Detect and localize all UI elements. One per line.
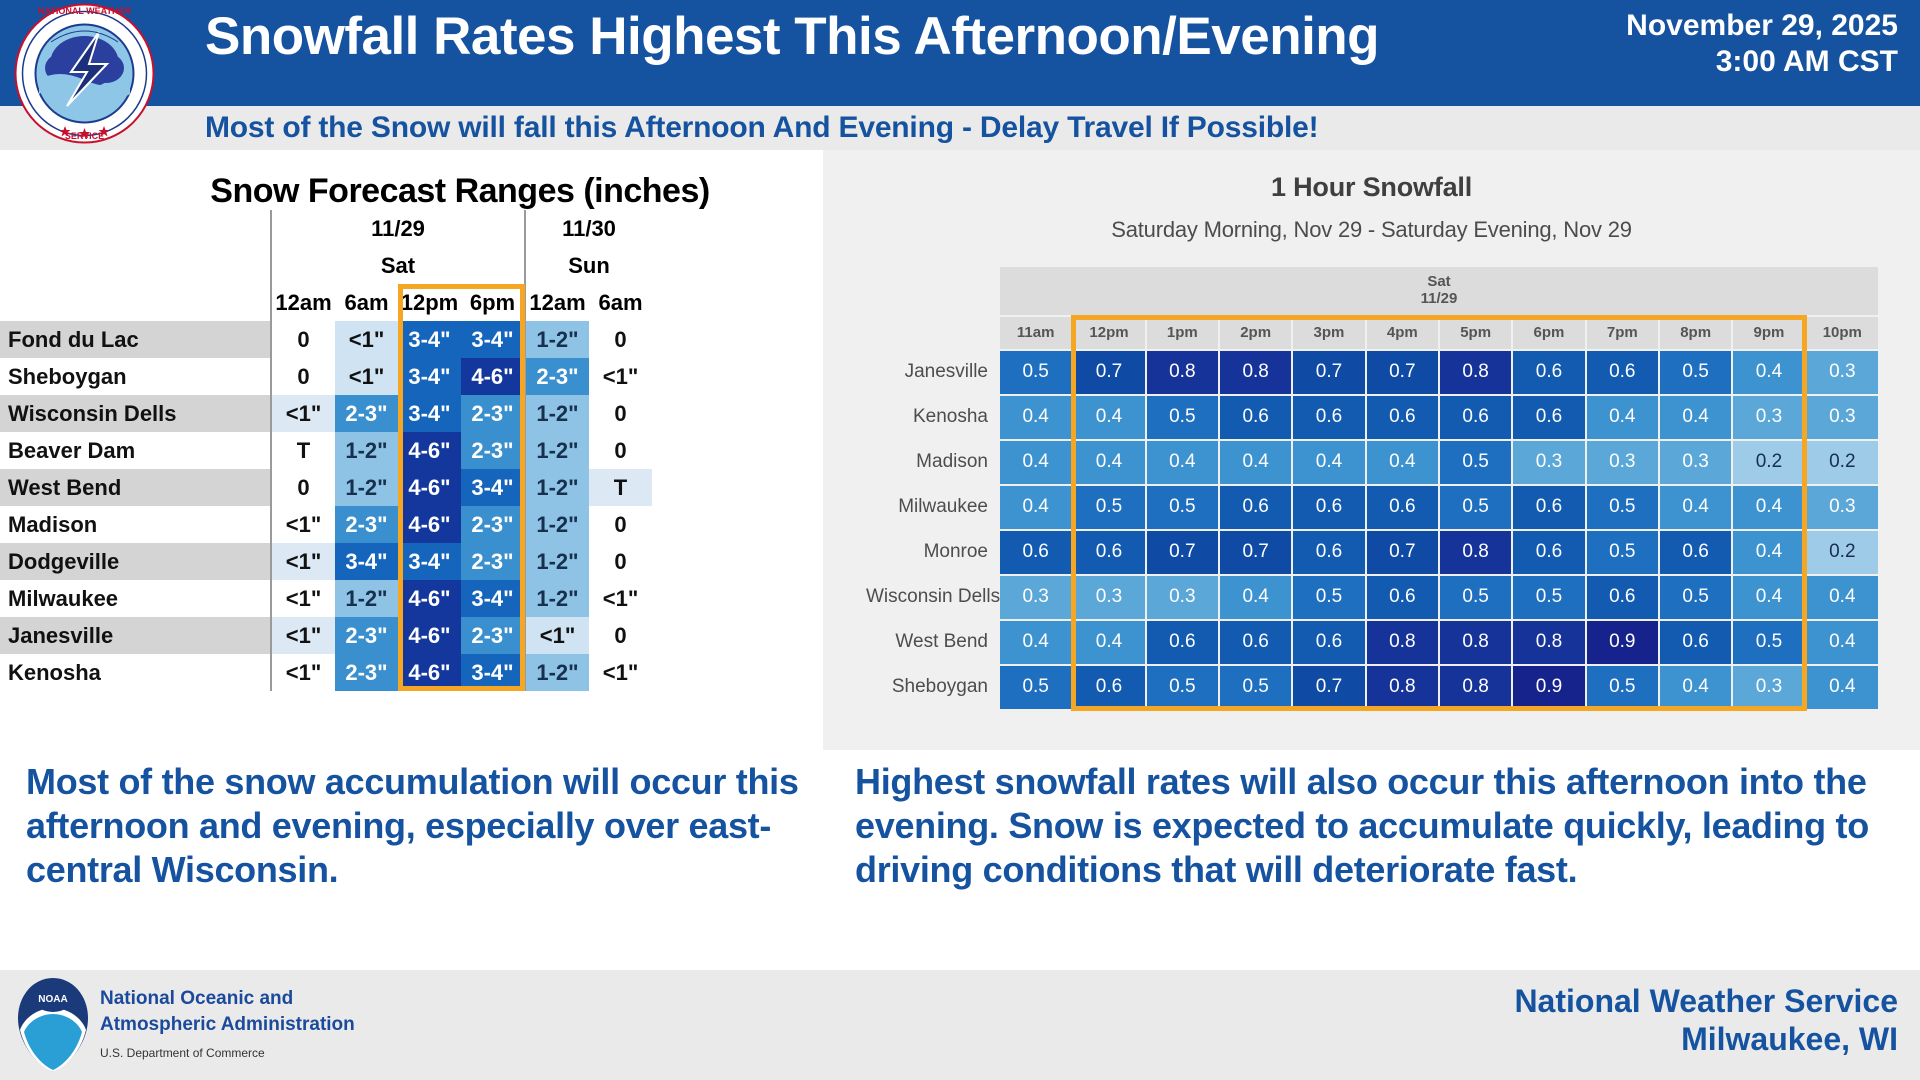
heatmap-cell: 0.6 <box>1587 351 1658 394</box>
forecast-cell: 1-2" <box>525 395 589 432</box>
forecast-cell: <1" <box>335 321 398 358</box>
forecast-cell: 3-4" <box>335 543 398 580</box>
heatmap-cell: 0.3 <box>1807 396 1878 439</box>
heatmap-cell: 0.5 <box>1440 486 1511 529</box>
heatmap-cell: 0.4 <box>1147 441 1218 484</box>
forecast-cell: 0 <box>589 617 652 654</box>
heatmap-cell: 0.3 <box>1587 441 1658 484</box>
header-datetime: November 29, 2025 3:00 AM CST <box>1626 8 1898 80</box>
header-date-1129: 11/29 <box>271 210 525 247</box>
row-city-label: Dodgeville <box>0 543 271 580</box>
forecast-cell: <1" <box>271 395 335 432</box>
forecast-cell: 1-2" <box>525 654 589 691</box>
page-header: Snowfall Rates Highest This Afternoon/Ev… <box>0 0 1920 106</box>
forecast-cell: 4-6" <box>398 654 461 691</box>
heatmap-cell: 0.4 <box>1073 396 1144 439</box>
heatmap-col-header: 3pm <box>1293 317 1364 349</box>
forecast-cell: 1-2" <box>525 469 589 506</box>
forecast-cell: 3-4" <box>461 469 525 506</box>
heatmap-cell: 0.4 <box>1000 486 1071 529</box>
heatmap-subtitle: Saturday Morning, Nov 29 - Saturday Even… <box>823 203 1920 243</box>
forecast-cell: T <box>589 469 652 506</box>
heatmap-col-header: 5pm <box>1440 317 1511 349</box>
heatmap-cell: 0.6 <box>1293 531 1364 574</box>
heatmap-col-header: 6pm <box>1513 317 1584 349</box>
forecast-cell: 0 <box>589 432 652 469</box>
page-footer: NOAA National Oceanic and Atmospheric Ad… <box>0 968 1920 1080</box>
heatmap-cell: 0.2 <box>1733 441 1804 484</box>
heatmap-day-row: Sat 11/29 <box>865 267 1878 315</box>
heatmap-title: 1 Hour Snowfall <box>823 150 1920 203</box>
main-content: Snow Forecast Ranges (inches) 11/29 11/3… <box>0 150 1920 980</box>
heatmap-cell: 0.3 <box>1733 396 1804 439</box>
row-city-label: Kenosha <box>0 654 271 691</box>
heatmap-cell: 0.6 <box>1513 531 1584 574</box>
col-header-6am-sun: 6am <box>589 284 652 321</box>
heatmap-cell: 0.8 <box>1440 351 1511 394</box>
forecast-cell: 2-3" <box>461 543 525 580</box>
heatmap-cell: 0.5 <box>1587 486 1658 529</box>
noaa-department: U.S. Department of Commerce <box>100 1046 265 1060</box>
heatmap-row: West Bend0.40.40.60.60.60.80.80.80.90.60… <box>865 621 1878 664</box>
heatmap-cell: 0.8 <box>1513 621 1584 664</box>
table-row: Beaver DamT1-2"4-6"2-3"1-2"0 <box>0 432 652 469</box>
forecast-cell: 2-3" <box>335 654 398 691</box>
header-row-hours: 12am 6am 12pm 6pm 12am 6am <box>0 284 652 321</box>
heatmap-row: Monroe0.60.60.70.70.60.70.80.60.50.60.40… <box>865 531 1878 574</box>
header-spacer-3 <box>0 284 271 321</box>
forecast-cell: 4-6" <box>398 432 461 469</box>
heatmap-cell: 0.5 <box>1587 531 1658 574</box>
subheader-text: Most of the Snow will fall this Afternoo… <box>205 111 1318 145</box>
heatmap-cell: 0.3 <box>1000 576 1071 619</box>
forecast-cell: 1-2" <box>335 580 398 617</box>
heatmap-cell: 0.7 <box>1367 531 1438 574</box>
heatmap-cell: 0.3 <box>1807 486 1878 529</box>
heatmap-cell: 0.5 <box>1220 666 1291 709</box>
nws-seal-icon: NATIONAL WEATHER SERVICE <box>13 2 156 145</box>
snow-forecast-ranges-title: Snow Forecast Ranges (inches) <box>200 172 720 211</box>
forecast-cell: 1-2" <box>335 469 398 506</box>
forecast-cell: 2-3" <box>461 617 525 654</box>
heatmap-cell: 0.6 <box>1220 621 1291 664</box>
col-header-6pm-sat: 6pm <box>461 284 525 321</box>
forecast-cell: <1" <box>589 358 652 395</box>
heatmap-cell: 0.7 <box>1073 351 1144 394</box>
nws-office-line-2: Milwaukee, WI <box>1514 1020 1898 1058</box>
heatmap-cell: 0.4 <box>1807 576 1878 619</box>
heatmap-cell: 0.5 <box>1000 351 1071 394</box>
header-date: November 29, 2025 <box>1626 8 1898 44</box>
heatmap-cell: 0.4 <box>1733 576 1804 619</box>
forecast-cell: <1" <box>589 580 652 617</box>
col-header-12am-sat: 12am <box>271 284 335 321</box>
heatmap-row: Madison0.40.40.40.40.40.40.50.30.30.30.2… <box>865 441 1878 484</box>
heatmap-header: Sat 11/29 11am12pm1pm2pm3pm4pm5pm6pm7pm8… <box>865 267 1878 349</box>
heatmap-cell: 0.6 <box>1587 576 1658 619</box>
noaa-agency-name: National Oceanic and Atmospheric Adminis… <box>100 986 355 1037</box>
header-day-sun: Sun <box>525 247 652 284</box>
heatmap-col-header: 8pm <box>1660 317 1731 349</box>
nws-office-line-1: National Weather Service <box>1514 982 1898 1020</box>
heatmap-cell: 0.5 <box>1440 576 1511 619</box>
heatmap-cell: 0.5 <box>1587 666 1658 709</box>
forecast-cell: 3-4" <box>461 580 525 617</box>
heatmap-day-label: Sat <box>1000 273 1878 290</box>
header-date-1130: 11/30 <box>525 210 652 247</box>
forecast-cell: 0 <box>589 506 652 543</box>
snow-forecast-ranges-table: 11/29 11/30 Sat Sun 12am 6am 12pm 6pm <box>0 210 652 691</box>
header-row-day: Sat Sun <box>0 247 652 284</box>
forecast-cell: 1-2" <box>525 543 589 580</box>
forecast-cell: 2-3" <box>525 358 589 395</box>
heatmap-cell: 0.6 <box>1073 531 1144 574</box>
forecast-cell: <1" <box>271 617 335 654</box>
heatmap-cell: 0.4 <box>1807 666 1878 709</box>
heatmap-row: Kenosha0.40.40.50.60.60.60.60.60.40.40.3… <box>865 396 1878 439</box>
forecast-cell: <1" <box>271 543 335 580</box>
heatmap-col-header: 2pm <box>1220 317 1291 349</box>
forecast-cell: 0 <box>589 321 652 358</box>
heatmap-cell: 0.8 <box>1440 666 1511 709</box>
heatmap-body: Janesville0.50.70.80.80.70.70.80.60.60.5… <box>865 351 1878 709</box>
heatmap-cell: 0.4 <box>1733 486 1804 529</box>
heatmap-col-header: 10pm <box>1807 317 1878 349</box>
forecast-cell: 2-3" <box>335 617 398 654</box>
heatmap-cell: 0.7 <box>1367 351 1438 394</box>
heatmap-row-label: Monroe <box>865 531 998 574</box>
heatmap-row-label: Janesville <box>865 351 998 394</box>
forecast-cell: 3-4" <box>461 654 525 691</box>
heatmap-day-bar: Sat 11/29 <box>1000 267 1878 315</box>
header-day-sat: Sat <box>271 247 525 284</box>
table-row: Madison<1"2-3"4-6"2-3"1-2"0 <box>0 506 652 543</box>
heatmap-cell: 0.5 <box>1513 576 1584 619</box>
row-city-label: Beaver Dam <box>0 432 271 469</box>
forecast-cell: 1-2" <box>525 321 589 358</box>
forecast-cell: 3-4" <box>398 358 461 395</box>
heatmap-cell: 0.5 <box>1147 396 1218 439</box>
heatmap-col-header: 11am <box>1000 317 1071 349</box>
table-row: Dodgeville<1"3-4"3-4"2-3"1-2"0 <box>0 543 652 580</box>
caption-right: Highest snowfall rates will also occur t… <box>855 760 1900 892</box>
snow-forecast-ranges-panel: Snow Forecast Ranges (inches) 11/29 11/3… <box>0 150 820 750</box>
heatmap-cell: 0.7 <box>1220 531 1291 574</box>
heatmap-cell: 0.8 <box>1220 351 1291 394</box>
heatmap-cell: 0.4 <box>1073 621 1144 664</box>
noaa-line-2: Atmospheric Administration <box>100 1012 355 1038</box>
noaa-logo-icon: NOAA <box>16 978 90 1072</box>
row-city-label: Sheboygan <box>0 358 271 395</box>
heatmap-cell: 0.3 <box>1147 576 1218 619</box>
heatmap-cell: 0.8 <box>1367 621 1438 664</box>
header-spacer-2 <box>0 247 271 284</box>
heatmap-row: Milwaukee0.40.50.50.60.60.60.50.60.50.40… <box>865 486 1878 529</box>
col-header-12am-sun: 12am <box>525 284 589 321</box>
heatmap-cell: 0.6 <box>1367 396 1438 439</box>
table-row: West Bend01-2"4-6"3-4"1-2"T <box>0 469 652 506</box>
heatmap-cell: 0.5 <box>1440 441 1511 484</box>
heatmap-row: Sheboygan0.50.60.50.50.70.80.80.90.50.40… <box>865 666 1878 709</box>
forecast-cell: 1-2" <box>525 506 589 543</box>
heatmap-cell: 0.6 <box>1220 486 1291 529</box>
heatmap-cell: 0.5 <box>1660 576 1731 619</box>
page-subheader: Most of the Snow will fall this Afternoo… <box>0 106 1920 150</box>
heatmap-col-header: 4pm <box>1367 317 1438 349</box>
heatmap-cell: 0.6 <box>1073 666 1144 709</box>
heatmap-cell: 0.4 <box>1587 396 1658 439</box>
one-hour-snowfall-table: Sat 11/29 11am12pm1pm2pm3pm4pm5pm6pm7pm8… <box>863 265 1880 711</box>
col-header-12pm-sat: 12pm <box>398 284 461 321</box>
caption-left: Most of the snow accumulation will occur… <box>26 760 816 892</box>
heatmap-cell: 0.6 <box>1367 486 1438 529</box>
heatmap-row-label: Wisconsin Dells <box>865 576 998 619</box>
heatmap-cell: 0.4 <box>1000 396 1071 439</box>
row-city-label: West Bend <box>0 469 271 506</box>
heatmap-cell: 0.8 <box>1440 531 1511 574</box>
heatmap-row-label: Milwaukee <box>865 486 998 529</box>
forecast-cell: 2-3" <box>335 395 398 432</box>
heatmap-cell: 0.4 <box>1733 351 1804 394</box>
forecast-cell: 3-4" <box>461 321 525 358</box>
nws-office: National Weather Service Milwaukee, WI <box>1514 982 1898 1059</box>
heatmap-cell: 0.6 <box>1293 621 1364 664</box>
heatmap-cell: 0.3 <box>1733 666 1804 709</box>
row-city-label: Wisconsin Dells <box>0 395 271 432</box>
heatmap-cell: 0.9 <box>1587 621 1658 664</box>
heatmap-cell: 0.4 <box>1660 486 1731 529</box>
forecast-cell: <1" <box>271 506 335 543</box>
heatmap-cell: 0.2 <box>1807 441 1878 484</box>
table-row: Fond du Lac0<1"3-4"3-4"1-2"0 <box>0 321 652 358</box>
heatmap-cell: 0.3 <box>1513 441 1584 484</box>
heatmap-cell: 0.4 <box>1000 441 1071 484</box>
svg-text:NATIONAL WEATHER: NATIONAL WEATHER <box>38 6 131 16</box>
heatmap-cell: 0.4 <box>1293 441 1364 484</box>
row-city-label: Milwaukee <box>0 580 271 617</box>
heatmap-cell: 0.8 <box>1440 621 1511 664</box>
forecast-cell: 0 <box>271 358 335 395</box>
heatmap-row-label: West Bend <box>865 621 998 664</box>
heatmap-cell: 0.4 <box>1367 441 1438 484</box>
forecast-cell: 0 <box>589 543 652 580</box>
forecast-cell: 2-3" <box>461 395 525 432</box>
heatmap-cell: 0.6 <box>1367 576 1438 619</box>
heatmap-cell: 0.5 <box>1147 666 1218 709</box>
heatmap-col-header: 12pm <box>1073 317 1144 349</box>
heatmap-cell: 0.4 <box>1220 576 1291 619</box>
table-row: Janesville<1"2-3"4-6"2-3"<1"0 <box>0 617 652 654</box>
heatmap-cell: 0.5 <box>1733 621 1804 664</box>
header-spacer <box>0 210 271 247</box>
heatmap-cell: 0.4 <box>1220 441 1291 484</box>
heatmap-row-label: Madison <box>865 441 998 484</box>
heatmap-cell: 0.6 <box>1513 396 1584 439</box>
heatmap-cell: 0.8 <box>1147 351 1218 394</box>
heatmap-col-header: 9pm <box>1733 317 1804 349</box>
heatmap-cell: 0.6 <box>1513 486 1584 529</box>
heatmap-cell: 0.4 <box>1733 531 1804 574</box>
forecast-cell: <1" <box>271 580 335 617</box>
heatmap-col-header: 7pm <box>1587 317 1658 349</box>
heatmap-cell: 0.6 <box>1440 396 1511 439</box>
table-row: Milwaukee<1"1-2"4-6"3-4"1-2"<1" <box>0 580 652 617</box>
heatmap-cell: 0.4 <box>1660 396 1731 439</box>
heatmap-cell: 0.7 <box>1293 351 1364 394</box>
heatmap-cell: 0.6 <box>1660 621 1731 664</box>
table-row: Kenosha<1"2-3"4-6"3-4"1-2"<1" <box>0 654 652 691</box>
forecast-cell: 0 <box>271 469 335 506</box>
one-hour-snowfall-panel: 1 Hour Snowfall Saturday Morning, Nov 29… <box>823 150 1920 750</box>
heatmap-cell: 0.5 <box>1147 486 1218 529</box>
heatmap-row: Wisconsin Dells0.30.30.30.40.50.60.50.50… <box>865 576 1878 619</box>
heatmap-cell: 0.9 <box>1513 666 1584 709</box>
row-city-label: Janesville <box>0 617 271 654</box>
row-city-label: Fond du Lac <box>0 321 271 358</box>
header-time: 3:00 AM CST <box>1626 44 1898 80</box>
heatmap-cell: 0.6 <box>1513 351 1584 394</box>
forecast-cell: 0 <box>271 321 335 358</box>
heatmap-cell: 0.5 <box>1073 486 1144 529</box>
heatmap-hour-spacer <box>865 317 998 349</box>
forecast-cell: 4-6" <box>461 358 525 395</box>
heatmap-col-header: 1pm <box>1147 317 1218 349</box>
heatmap-day-date: 11/29 <box>1000 290 1878 307</box>
heatmap-header-spacer <box>865 267 998 315</box>
forecast-cell: <1" <box>271 654 335 691</box>
heatmap-cell: 0.4 <box>1000 621 1071 664</box>
heatmap-cell: 0.4 <box>1660 666 1731 709</box>
forecast-cell: <1" <box>589 654 652 691</box>
forecast-cell: 3-4" <box>398 321 461 358</box>
forecast-cell: T <box>271 432 335 469</box>
heatmap-cell: 0.5 <box>1293 576 1364 619</box>
table-row: Wisconsin Dells<1"2-3"3-4"2-3"1-2"0 <box>0 395 652 432</box>
col-header-6am-sat: 6am <box>335 284 398 321</box>
table-row: Sheboygan0<1"3-4"4-6"2-3"<1" <box>0 358 652 395</box>
forecast-cell: 2-3" <box>335 506 398 543</box>
heatmap-row-label: Sheboygan <box>865 666 998 709</box>
heatmap-cell: 0.6 <box>1293 486 1364 529</box>
noaa-logo-text: NOAA <box>38 994 67 1005</box>
heatmap-cell: 0.2 <box>1807 531 1878 574</box>
heatmap-cell: 0.6 <box>1293 396 1364 439</box>
forecast-cell: 4-6" <box>398 506 461 543</box>
heatmap-cell: 0.3 <box>1807 351 1878 394</box>
forecast-cell: 4-6" <box>398 617 461 654</box>
heatmap-cell: 0.3 <box>1073 576 1144 619</box>
forecast-cell: 1-2" <box>335 432 398 469</box>
heatmap-cell: 0.5 <box>1000 666 1071 709</box>
header-row-date: 11/29 11/30 <box>0 210 652 247</box>
heatmap-cell: 0.4 <box>1073 441 1144 484</box>
table-header: 11/29 11/30 Sat Sun 12am 6am 12pm 6pm <box>0 210 652 321</box>
forecast-cell: 1-2" <box>525 580 589 617</box>
forecast-cell: 1-2" <box>525 432 589 469</box>
heatmap-cell: 0.5 <box>1660 351 1731 394</box>
forecast-cell: 2-3" <box>461 506 525 543</box>
forecast-cell: 0 <box>589 395 652 432</box>
heatmap-row-label: Kenosha <box>865 396 998 439</box>
forecast-cell: 3-4" <box>398 395 461 432</box>
heatmap-row: Janesville0.50.70.80.80.70.70.80.60.60.5… <box>865 351 1878 394</box>
heatmap-cell: 0.6 <box>1220 396 1291 439</box>
forecast-cell: 2-3" <box>461 432 525 469</box>
heatmap-cell: 0.7 <box>1293 666 1364 709</box>
forecast-cell: <1" <box>335 358 398 395</box>
row-city-label: Madison <box>0 506 271 543</box>
forecast-cell: 4-6" <box>398 580 461 617</box>
heatmap-cell: 0.4 <box>1807 621 1878 664</box>
heatmap-cell: 0.6 <box>1660 531 1731 574</box>
heatmap-cell: 0.3 <box>1660 441 1731 484</box>
page-title: Snowfall Rates Highest This Afternoon/Ev… <box>205 6 1379 67</box>
heatmap-hour-row: 11am12pm1pm2pm3pm4pm5pm6pm7pm8pm9pm10pm <box>865 317 1878 349</box>
heatmap-cell: 0.7 <box>1147 531 1218 574</box>
forecast-cell: 4-6" <box>398 469 461 506</box>
table-body: Fond du Lac0<1"3-4"3-4"1-2"0Sheboygan0<1… <box>0 321 652 691</box>
heatmap-cell: 0.8 <box>1367 666 1438 709</box>
forecast-cell: <1" <box>525 617 589 654</box>
noaa-line-1: National Oceanic and <box>100 986 355 1012</box>
heatmap-cell: 0.6 <box>1147 621 1218 664</box>
heatmap-cell: 0.6 <box>1000 531 1071 574</box>
forecast-cell: 3-4" <box>398 543 461 580</box>
